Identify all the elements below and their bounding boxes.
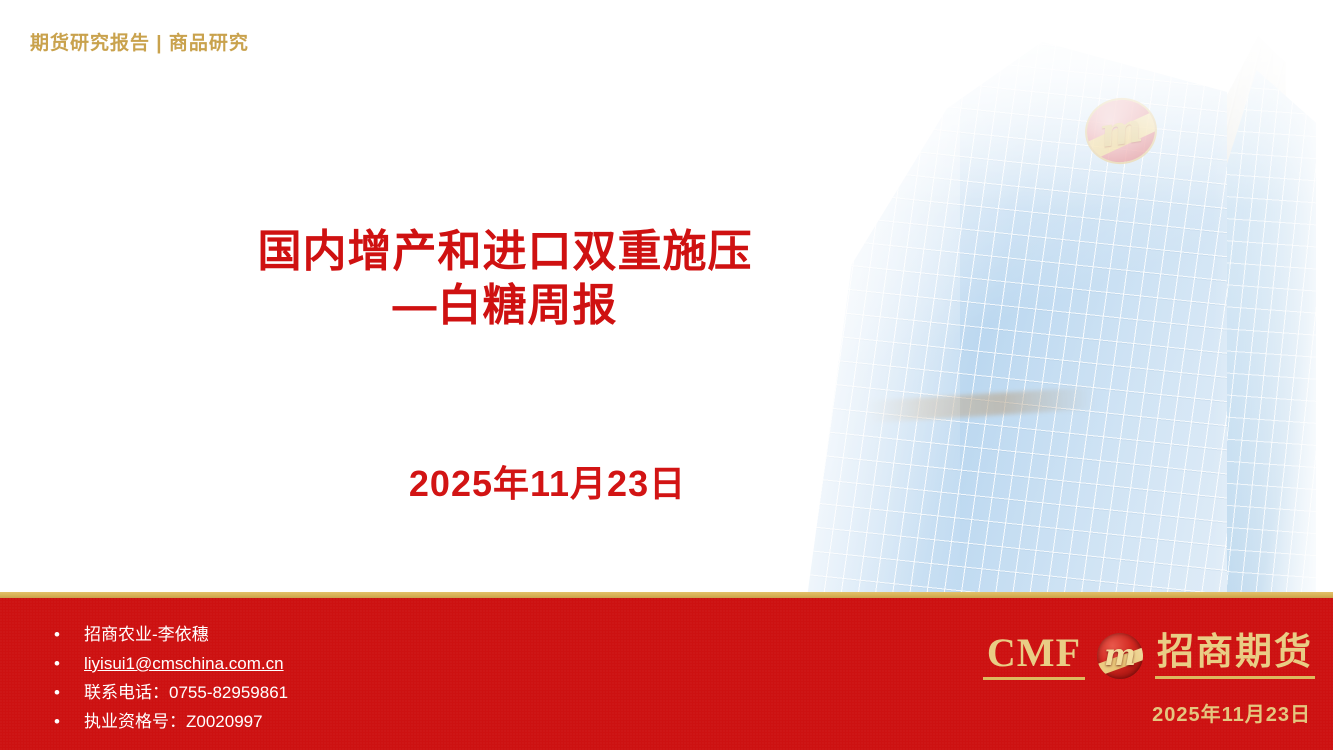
contact-list: 招商农业-李依穗 liyisui1@cmschina.com.cn 联系电话：0… <box>48 620 288 736</box>
brand-emblem-glyph: m <box>1097 633 1143 679</box>
list-item[interactable]: liyisui1@cmschina.com.cn <box>48 649 288 678</box>
cms-sphere-logo-icon: m <box>1097 633 1143 679</box>
contact-license: 执业资格号：Z0020997 <box>84 712 263 731</box>
title-slide: m 期货研究报告 | 商品研究 国内增产和进口双重施压 —白糖周报 2025年1… <box>0 0 1333 750</box>
report-kicker: 期货研究报告 | 商品研究 <box>30 28 249 55</box>
title-block: 国内增产和进口双重施压 —白糖周报 <box>0 225 1010 332</box>
contact-email-link[interactable]: liyisui1@cmschina.com.cn <box>84 654 284 673</box>
brand-latin-wordmark: CMF <box>983 633 1085 680</box>
slide-date: 2025年11月23日 <box>0 455 1095 507</box>
footer-band: 招商农业-李依穗 liyisui1@cmschina.com.cn 联系电话：0… <box>0 598 1333 750</box>
page-title-line2: —白糖周报 <box>0 279 1010 333</box>
page-title-line1: 国内增产和进口双重施压 <box>0 225 1010 279</box>
list-item: 联系电话：0755-82959861 <box>48 678 288 707</box>
footer-date: 2025年11月23日 <box>1152 698 1311 727</box>
contact-analyst: 招商农业-李依穗 <box>84 625 209 644</box>
list-item: 执业资格号：Z0020997 <box>48 707 288 736</box>
brand-lockup: CMF m 招商期货 2025年11月23日 <box>965 628 1315 738</box>
brand-chinese-wordmark: 招商期货 <box>1155 633 1315 679</box>
brand-row: CMF m 招商期货 <box>965 628 1315 684</box>
list-item: 招商农业-李依穗 <box>48 620 288 649</box>
photo-right-fade <box>1213 0 1333 598</box>
contact-phone: 联系电话：0755-82959861 <box>84 683 288 702</box>
